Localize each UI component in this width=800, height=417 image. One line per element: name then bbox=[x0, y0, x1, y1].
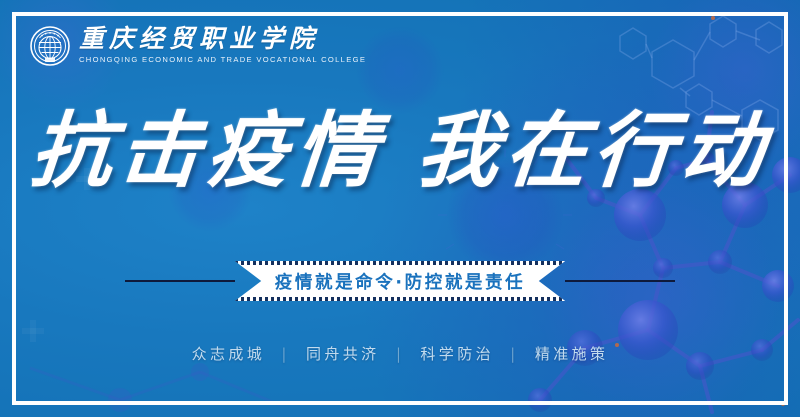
ribbon-dotted-edge-bottom bbox=[235, 297, 565, 301]
tagline-item-1: 众志成城 bbox=[192, 345, 266, 363]
poster-canvas: 重庆经贸职业学院 CHONGQING ECONOMIC AND TRADE VO… bbox=[0, 0, 800, 417]
college-name-en: CHONGQING ECONOMIC AND TRADE VOCATIONAL … bbox=[79, 54, 366, 66]
tagline-item-3: 科学防治 bbox=[420, 345, 494, 363]
globe-crest-emblem-icon bbox=[30, 26, 70, 66]
decor-cross-icon bbox=[22, 328, 44, 334]
tagline-separator: | bbox=[388, 343, 412, 365]
ribbon-rule-left bbox=[125, 280, 235, 282]
footer-tagline: 众志成城 | 同舟共济 | 科学防治 | 精准施策 bbox=[0, 343, 800, 365]
college-logo-block: 重庆经贸职业学院 CHONGQING ECONOMIC AND TRADE VO… bbox=[30, 26, 366, 66]
college-name-text: 重庆经贸职业学院 CHONGQING ECONOMIC AND TRADE VO… bbox=[79, 26, 366, 66]
ribbon-dotted-edge-top bbox=[235, 261, 565, 265]
ribbon-body: 疫情就是命令·防控就是责任 bbox=[235, 261, 565, 301]
tagline-separator: | bbox=[273, 343, 297, 365]
headline-part-2: 我在行动 bbox=[413, 105, 773, 197]
college-name-cn: 重庆经贸职业学院 bbox=[79, 26, 366, 52]
tagline-item-4: 精准施策 bbox=[535, 345, 609, 363]
tagline-item-2: 同舟共济 bbox=[306, 345, 380, 363]
headline-part-1: 抗击疫情 bbox=[27, 105, 387, 197]
decor-cross-icon bbox=[30, 320, 36, 342]
tagline-separator: | bbox=[502, 343, 526, 365]
page-title: 抗击疫情我在行动 bbox=[0, 105, 800, 197]
ribbon-slogan-text: 疫情就是命令·防控就是责任 bbox=[275, 269, 525, 294]
ribbon-rule-right bbox=[565, 280, 675, 282]
slogan-ribbon: 疫情就是命令·防控就是责任 bbox=[0, 258, 800, 304]
